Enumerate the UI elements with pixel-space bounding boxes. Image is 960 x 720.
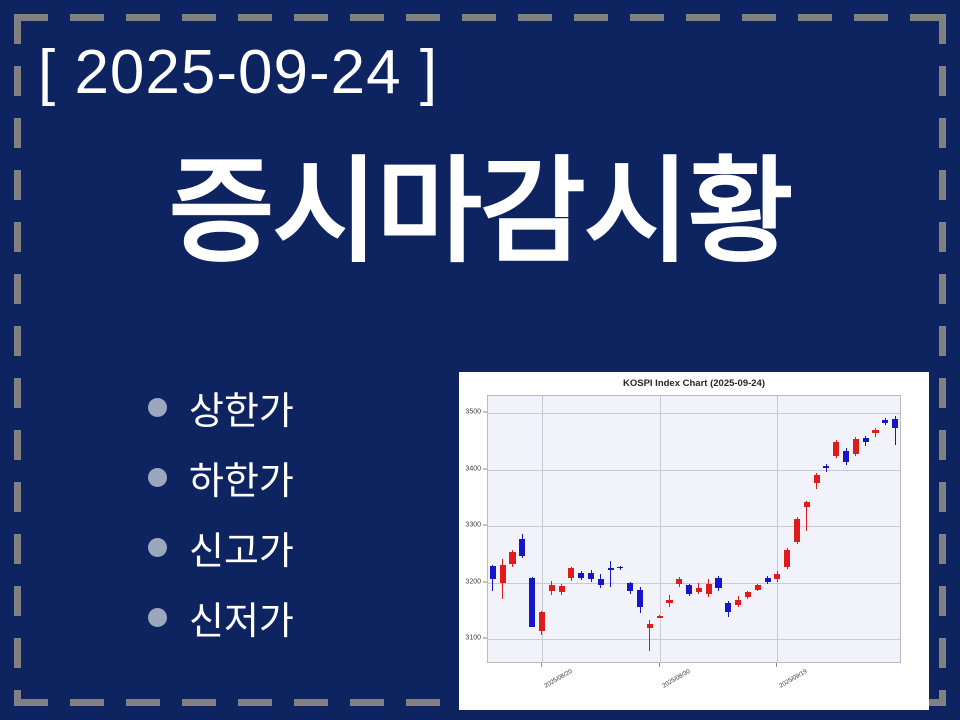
candlestick-body — [784, 550, 790, 567]
candlestick-body — [657, 616, 663, 618]
bullet-dot-icon — [148, 608, 167, 627]
candlestick-body — [843, 451, 849, 461]
page-title: 증시마감시황 — [0, 155, 960, 270]
list-item: 하한가 — [148, 442, 438, 512]
candlestick-body — [559, 586, 565, 592]
candlestick-body — [833, 442, 839, 456]
x-axis-tick-mark — [541, 663, 542, 667]
candlestick-body — [676, 579, 682, 585]
y-axis-tick-mark — [483, 638, 487, 639]
gridline-horizontal — [488, 413, 900, 414]
y-axis-tick-label: 3500 — [441, 408, 481, 415]
bullet-list: 상한가하한가신고가신저가 — [148, 372, 438, 652]
candlestick-body — [823, 466, 829, 468]
candlestick-body — [853, 439, 859, 454]
candlestick-body — [617, 567, 623, 569]
candlestick-body — [549, 585, 555, 591]
y-axis-tick-mark — [483, 468, 487, 469]
bullet-dot-icon — [148, 398, 167, 417]
list-item: 신고가 — [148, 512, 438, 582]
candlestick-body — [519, 539, 525, 555]
bullet-dot-icon — [148, 538, 167, 557]
y-axis-tick-label: 3200 — [441, 578, 481, 585]
dashed-border-top — [14, 14, 946, 21]
candlestick-body — [568, 568, 574, 578]
candlestick-body — [529, 578, 535, 627]
candlestick-body — [814, 475, 820, 483]
candlestick-body — [735, 600, 741, 606]
candlestick-body — [755, 585, 761, 590]
candlestick-body — [765, 578, 771, 581]
y-axis-tick-mark — [483, 581, 487, 582]
candlestick-body — [725, 603, 731, 612]
gridline-vertical — [777, 396, 778, 662]
candlestick-body — [892, 419, 898, 428]
candlestick-body — [647, 624, 653, 629]
dashed-border-left — [14, 14, 21, 706]
list-item: 신저가 — [148, 582, 438, 652]
candlestick-body — [598, 579, 604, 585]
chart-title: KOSPI Index Chart (2025-09-24) — [459, 378, 929, 389]
kospi-chart-figure: KOSPI Index Chart (2025-09-24) 310032003… — [459, 372, 929, 710]
gridline-vertical — [660, 396, 661, 662]
candlestick-body — [578, 573, 584, 579]
candlestick-body — [804, 502, 810, 507]
candlestick-body — [745, 592, 751, 597]
list-item-label: 하한가 — [189, 450, 294, 505]
candlestick-wick — [826, 464, 827, 472]
bullet-dot-icon — [148, 468, 167, 487]
x-axis-tick-label: 2025/08/20 — [543, 668, 573, 690]
x-axis-tick-label: 2025/08/30 — [661, 668, 691, 690]
candlestick-body — [539, 612, 545, 631]
date-heading: [ 2025-09-24 ] — [38, 42, 438, 104]
candlestick-body — [637, 590, 643, 607]
chart-plot-area — [487, 395, 901, 663]
candlestick-wick — [610, 561, 611, 587]
candlestick-body — [715, 578, 721, 588]
x-axis-tick-mark — [659, 663, 660, 667]
candlestick-body — [863, 438, 869, 443]
gridline-horizontal — [488, 583, 900, 584]
dashed-border-right — [939, 14, 946, 706]
gridline-horizontal — [488, 470, 900, 471]
candlestick-body — [627, 583, 633, 591]
candlestick-body — [608, 568, 614, 570]
candlestick-body — [882, 420, 888, 423]
candlestick-body — [588, 573, 594, 580]
candlestick-body — [706, 584, 712, 594]
candlestick-body — [696, 588, 702, 591]
y-axis-tick-label: 3100 — [441, 635, 481, 642]
candlestick-body — [500, 565, 506, 583]
candlestick-body — [666, 600, 672, 603]
y-axis-tick-mark — [483, 525, 487, 526]
slide-card: [ 2025-09-24 ] 증시마감시황 상한가하한가신고가신저가 KOSPI… — [0, 0, 960, 720]
candlestick-body — [509, 552, 515, 563]
y-axis-tick-label: 3400 — [441, 465, 481, 472]
candlestick-body — [872, 430, 878, 433]
candlestick-body — [774, 574, 780, 580]
list-item-label: 상한가 — [189, 380, 294, 435]
candlestick-body — [490, 566, 496, 579]
list-item-label: 신고가 — [189, 520, 294, 575]
list-item-label: 신저가 — [189, 590, 294, 645]
x-axis-tick-label: 2025/09/19 — [779, 668, 809, 690]
y-axis-tick-mark — [483, 411, 487, 412]
list-item: 상한가 — [148, 372, 438, 442]
candlestick-body — [686, 585, 692, 594]
candlestick-body — [794, 519, 800, 542]
gridline-horizontal — [488, 639, 900, 640]
gridline-horizontal — [488, 526, 900, 527]
y-axis-tick-label: 3300 — [441, 522, 481, 529]
x-axis-tick-mark — [776, 663, 777, 667]
